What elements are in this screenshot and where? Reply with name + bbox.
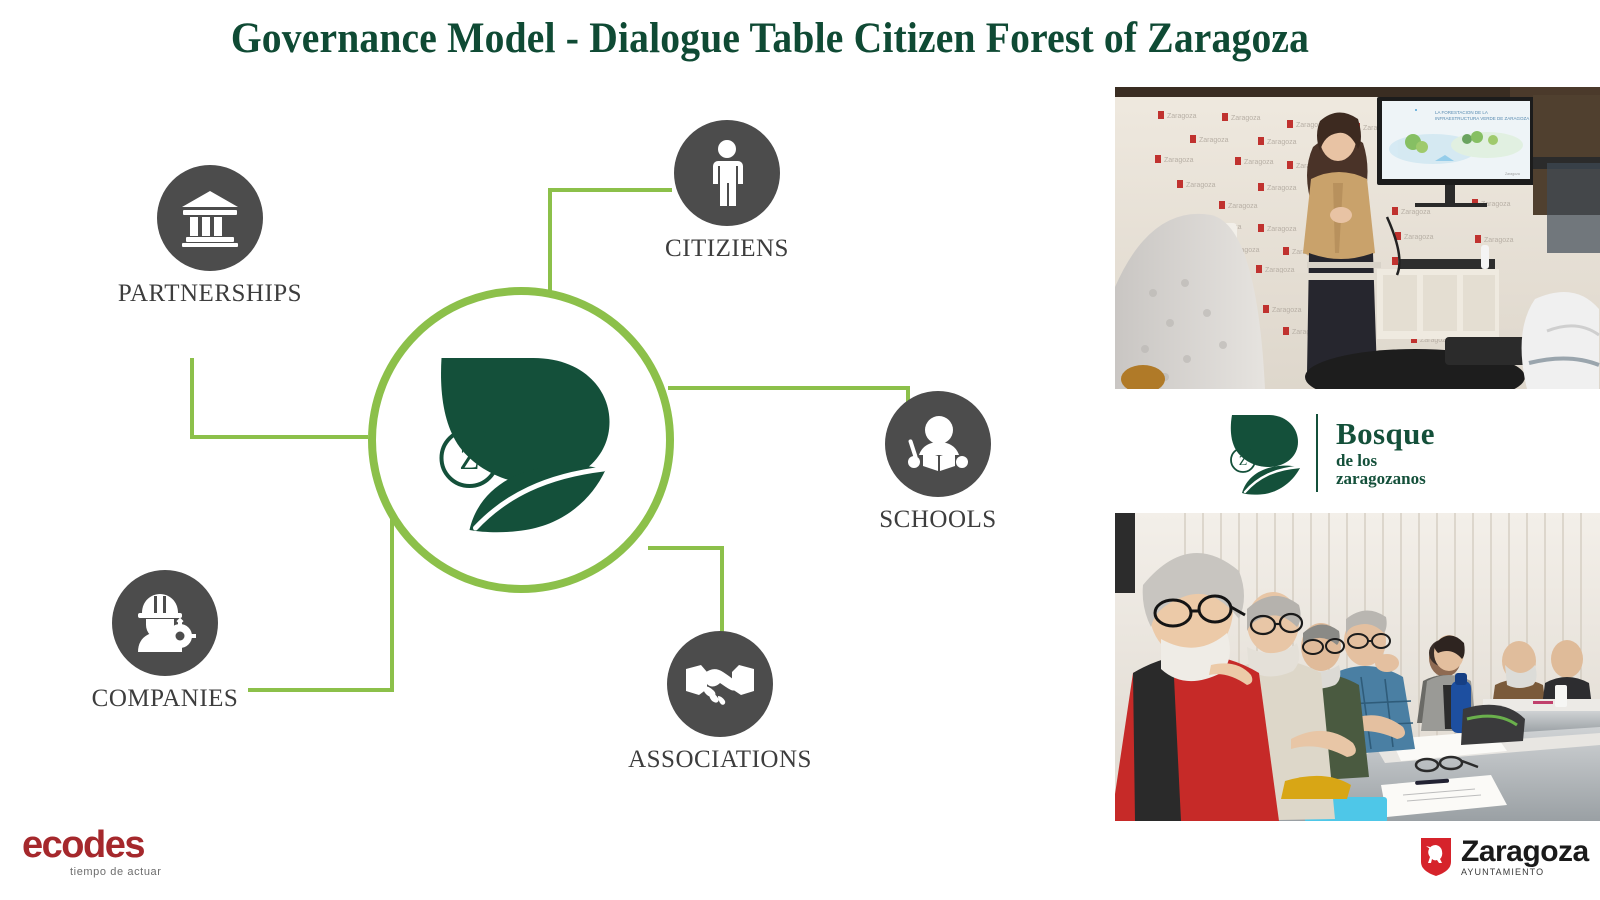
citizens-icon-circle (674, 120, 780, 226)
node-schools[interactable]: SCHOOLS (830, 391, 1046, 534)
bosque-logo-mark: Z (414, 340, 629, 540)
partnerships-label: PARTNERSHIPS (102, 280, 318, 308)
svg-text:Zaragoza: Zaragoza (1272, 307, 1302, 314)
ecodes-tagline: tiempo de actuar (70, 866, 212, 878)
hub-circle: Z (368, 287, 674, 593)
svg-text:Zaragoza: Zaragoza (1267, 226, 1297, 233)
svg-text:Zaragoza: Zaragoza (1167, 113, 1197, 120)
svg-text:LA FORESTACION DE LA: LA FORESTACION DE LA (1435, 110, 1488, 115)
svg-text:Zaragoza: Zaragoza (1484, 237, 1514, 244)
slide-canvas: Governance Model - Dialogue Table Citize… (0, 0, 1600, 900)
zaragoza-wordmark: Zaragoza (1461, 837, 1589, 867)
dialogue-table-meeting-photo (1115, 513, 1600, 821)
companies-label: COMPANIES (57, 685, 273, 713)
svg-text:Zaragoza: Zaragoza (1265, 267, 1295, 274)
brand-wordmark: Bosque de los zaragozanos (1336, 418, 1435, 487)
svg-text:Zaragoza: Zaragoza (1505, 172, 1520, 176)
worker-helmet-gear-icon (132, 592, 198, 654)
svg-text:Zaragoza: Zaragoza (1199, 137, 1229, 144)
handshake-icon (685, 659, 755, 709)
brand-line-1: Bosque (1336, 418, 1435, 449)
governance-diagram: Z PARTNERSHIPS (0, 80, 1090, 820)
partnerships-icon-circle (157, 165, 263, 271)
brand-z-letter: Z (1239, 454, 1248, 469)
brand-line-2: de los (1336, 452, 1435, 469)
svg-text:Zaragoza: Zaragoza (1401, 209, 1431, 216)
page-title: Governance Model - Dialogue Table Citize… (62, 14, 1479, 63)
zaragoza-subtitle: AYUNTAMIENTO (1461, 868, 1589, 877)
schools-icon-circle (885, 391, 991, 497)
svg-text:Zaragoza: Zaragoza (1228, 203, 1258, 210)
node-partnerships[interactable]: PARTNERSHIPS (102, 165, 318, 308)
bank-building-icon (178, 188, 242, 248)
zaragoza-logo: Zaragoza AYUNTAMIENTO (1420, 830, 1590, 884)
bosque-brand-lockup: Z Bosque de los zaragozanos (1222, 405, 1522, 500)
citizens-label: CITIZIENS (619, 235, 835, 263)
svg-text:Zaragoza: Zaragoza (1244, 159, 1274, 166)
svg-text:Zaragoza: Zaragoza (1267, 139, 1297, 146)
bosque-logo-mark-small: Z (1222, 409, 1304, 497)
node-companies[interactable]: COMPANIES (57, 570, 273, 713)
svg-text:Zaragoza: Zaragoza (1231, 115, 1261, 122)
meeting-photo-render (1115, 513, 1600, 821)
ecodes-logo: ecodes tiempo de actuar (22, 826, 212, 884)
companies-icon-circle (112, 570, 218, 676)
person-standing-icon (705, 140, 749, 206)
zaragoza-wordmark-block: Zaragoza AYUNTAMIENTO (1461, 837, 1589, 877)
associations-icon-circle (667, 631, 773, 737)
press-conference-photo: ZaragozaZaragoza ZaragozaZaragoza Zarago… (1115, 87, 1600, 389)
brand-line-3: zaragozanos (1336, 470, 1435, 487)
schools-label: SCHOOLS (830, 506, 1046, 534)
hub-z-letter: Z (459, 441, 479, 477)
svg-text:Zaragoza: Zaragoza (1267, 185, 1297, 192)
ecodes-wordmark: ecodes (22, 826, 212, 864)
associations-label: ASSOCIATIONS (612, 746, 828, 774)
svg-text:INFRAESTRUCTURA VERDE DE ZARAG: INFRAESTRUCTURA VERDE DE ZARAGOZA (1435, 116, 1529, 121)
svg-text:Zaragoza: Zaragoza (1186, 182, 1216, 189)
node-associations[interactable]: ASSOCIATIONS (612, 631, 828, 774)
svg-text:Zaragoza: Zaragoza (1404, 234, 1434, 241)
svg-text:Zaragoza: Zaragoza (1164, 157, 1194, 164)
press-photo-render: ZaragozaZaragoza ZaragozaZaragoza Zarago… (1115, 87, 1600, 389)
node-citizens[interactable]: CITIZIENS (619, 120, 835, 263)
zaragoza-shield-icon (1420, 837, 1452, 877)
brand-divider (1316, 414, 1318, 492)
student-reading-book-icon (905, 415, 971, 473)
